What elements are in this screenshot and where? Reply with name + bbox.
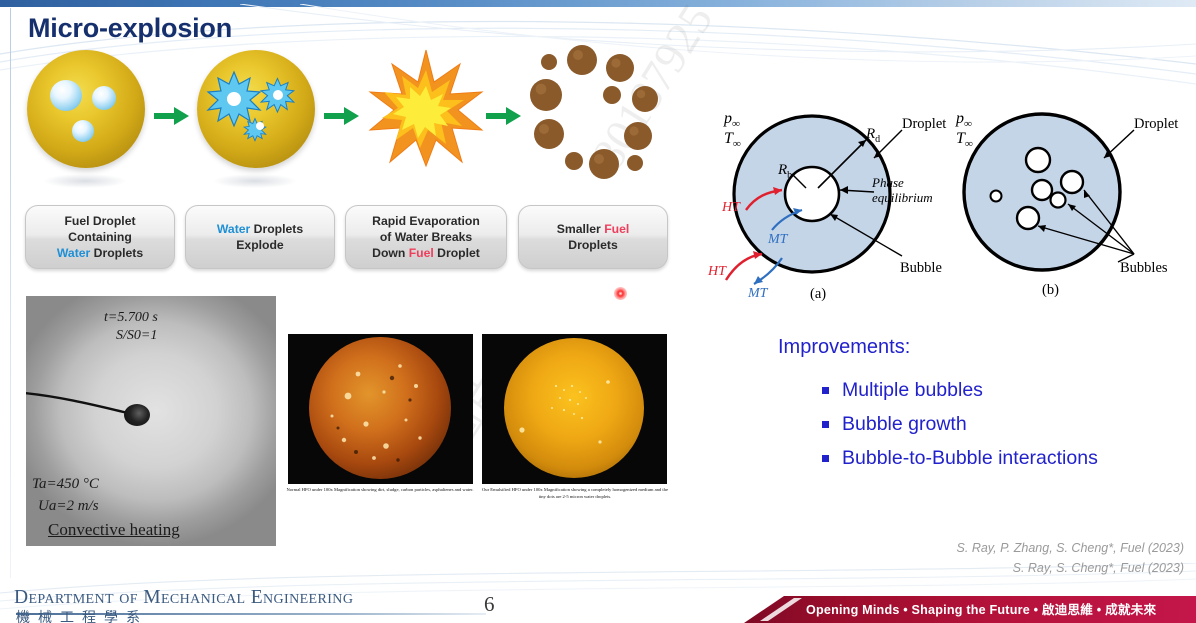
arrow-right-icon xyxy=(322,104,362,128)
page-number: 6 xyxy=(484,592,495,617)
micrograph-normal-hfo xyxy=(288,334,473,484)
department-name-en: Department of Mechanical Engineering xyxy=(14,587,353,609)
stage-water-droplets-explode xyxy=(192,42,317,192)
slogan-text: Opening Minds • Shaping the Future • 啟迪思… xyxy=(806,599,1156,618)
stage-smaller-fuel-droplets xyxy=(522,42,682,192)
photo-time-label: t=5.700 s xyxy=(104,310,158,326)
explosion-burst-icon xyxy=(368,48,484,168)
stage-fuel-droplet-with-water xyxy=(22,42,147,192)
schematic-a-bubble-label: Bubble xyxy=(900,260,942,277)
micrograph-emulsified-hfo xyxy=(482,334,667,484)
slide-footer: Department of Mechanical Engineering 機械工… xyxy=(0,583,1196,623)
process-caption-box-2: Water Droplets Explode xyxy=(185,205,335,269)
caption-text: Fuel Droplet xyxy=(64,214,135,228)
water-bubble-icon xyxy=(50,80,82,111)
schematic-a-rb-label: Rb xyxy=(778,162,792,181)
arrow-right-icon xyxy=(484,104,524,128)
slogan-banner: Opening Minds • Shaping the Future • 啟迪思… xyxy=(744,596,1196,623)
caption-water-word: Water xyxy=(217,222,250,236)
arrow-right-icon xyxy=(152,104,192,128)
photo-ambient-temperature-label: Ta=450 °C xyxy=(32,476,99,493)
schematic-b-bubbles-label: Bubbles xyxy=(1120,260,1168,277)
schematic-a-heat-transfer-label-inner: HT xyxy=(722,200,740,216)
photo-size-ratio-label: S/S0=1 xyxy=(116,328,157,344)
schematic-a-phase-equilibrium-label: Phaseequilibrium xyxy=(872,176,933,206)
caption-text: Rapid Evaporation xyxy=(372,214,480,228)
photo-mode-label: Convective heating xyxy=(48,520,180,540)
water-bubble-icon xyxy=(72,120,94,142)
process-caption-box-4: Smaller Fuel Droplets xyxy=(518,205,668,269)
schematic-single-bubble: p∞ T∞ Rd Rb Droplet Phaseequilibrium Bub… xyxy=(706,104,946,309)
micrograph-caption-normal: Normal HFO under 100x Magnification show… xyxy=(285,487,475,494)
caption-text: of Water Breaks xyxy=(380,230,472,244)
bullet-square-icon xyxy=(822,387,829,394)
improvements-item: Multiple bubbles xyxy=(822,373,1098,407)
caption-text: Droplets xyxy=(90,246,143,260)
fuel-droplet-sphere xyxy=(27,50,145,168)
improvements-item-label: Bubble-to-Bubble interactions xyxy=(842,447,1098,470)
slide-canvas: 80187925 圖片 Micro-explosion xyxy=(0,0,1196,623)
improvements-item-label: Multiple bubbles xyxy=(842,379,983,402)
improvements-heading: Improvements: xyxy=(778,336,910,359)
caption-text: Droplet xyxy=(434,246,480,260)
suspended-droplet xyxy=(124,404,150,426)
department-name-zh: 機械工程學系 xyxy=(16,607,148,623)
schematic-multiple-bubbles: p∞ T∞ Droplet Bubbles (b) xyxy=(938,104,1188,309)
suspension-fiber xyxy=(26,391,130,417)
photo-ambient-velocity-label: Ua=2 m/s xyxy=(38,498,99,515)
caption-text: Droplets xyxy=(568,238,617,252)
bullet-square-icon xyxy=(822,455,829,462)
process-caption-box-1: Fuel Droplet Containing Water Droplets xyxy=(25,205,175,269)
schematic-b-panel-label: (b) xyxy=(1042,282,1059,299)
convective-heating-photo: t=5.700 s S/S0=1 Ta=450 °C Ua=2 m/s Conv… xyxy=(26,296,276,546)
caption-fuel-word: Fuel xyxy=(604,222,629,236)
droplet-shadow xyxy=(214,174,296,188)
schematic-a-panel-label: (a) xyxy=(810,286,826,303)
top-accent-band xyxy=(0,0,1196,7)
laser-pointer-dot xyxy=(614,287,627,300)
caption-fuel-word: Fuel xyxy=(409,246,434,260)
water-bubble-icon xyxy=(92,86,116,110)
process-caption-box-3: Rapid Evaporation of Water Breaks Down F… xyxy=(345,205,507,269)
schematic-a-mass-transfer-label-outer: MT xyxy=(748,286,767,302)
schematic-a-pressure-label: p∞ xyxy=(724,110,740,130)
caption-water-word: Water xyxy=(57,246,90,260)
caption-text: Droplets xyxy=(250,222,303,236)
bullet-square-icon xyxy=(822,421,829,428)
improvements-list: Multiple bubbles Bubble growth Bubble-to… xyxy=(822,373,1098,475)
left-accent-rule xyxy=(10,8,11,578)
stage-rapid-evaporation xyxy=(362,42,487,192)
schematic-a-heat-transfer-label-outer: HT xyxy=(708,264,726,280)
microexplosion-process-diagram xyxy=(22,42,682,202)
schematic-b-pressure-label: p∞ xyxy=(956,110,972,130)
droplet-shadow xyxy=(44,174,126,188)
citation-line-2: S. Ray, S. Cheng*, Fuel (2023) xyxy=(1013,561,1184,575)
caption-text: Down xyxy=(372,246,409,260)
micrograph-image-emulsified xyxy=(482,334,667,484)
improvements-item: Bubble-to-Bubble interactions xyxy=(822,441,1098,475)
schematic-b-temperature-label: T∞ xyxy=(956,130,973,150)
small-droplet-cluster-icon xyxy=(522,42,682,182)
caption-text: Containing xyxy=(68,230,132,244)
caption-text: Smaller xyxy=(557,222,604,236)
micrograph-caption-emulsified: Our Emulsified HFO under 100x Magnificat… xyxy=(480,487,670,501)
page-title: Micro-explosion xyxy=(28,13,232,44)
citation-line-1: S. Ray, P. Zhang, S. Cheng*, Fuel (2023) xyxy=(957,541,1184,555)
improvements-item-label: Bubble growth xyxy=(842,413,967,436)
schematic-a-rd-label: Rd xyxy=(866,126,880,145)
improvements-item: Bubble growth xyxy=(822,407,1098,441)
water-explosion-burst-icon xyxy=(206,64,306,154)
caption-text: Explode xyxy=(236,238,283,252)
schematic-a-temperature-label: T∞ xyxy=(724,130,741,150)
schematic-b-droplet-label: Droplet xyxy=(1134,116,1178,133)
micrograph-image-normal xyxy=(288,334,473,484)
schematic-a-mass-transfer-label-inner: MT xyxy=(768,232,787,248)
